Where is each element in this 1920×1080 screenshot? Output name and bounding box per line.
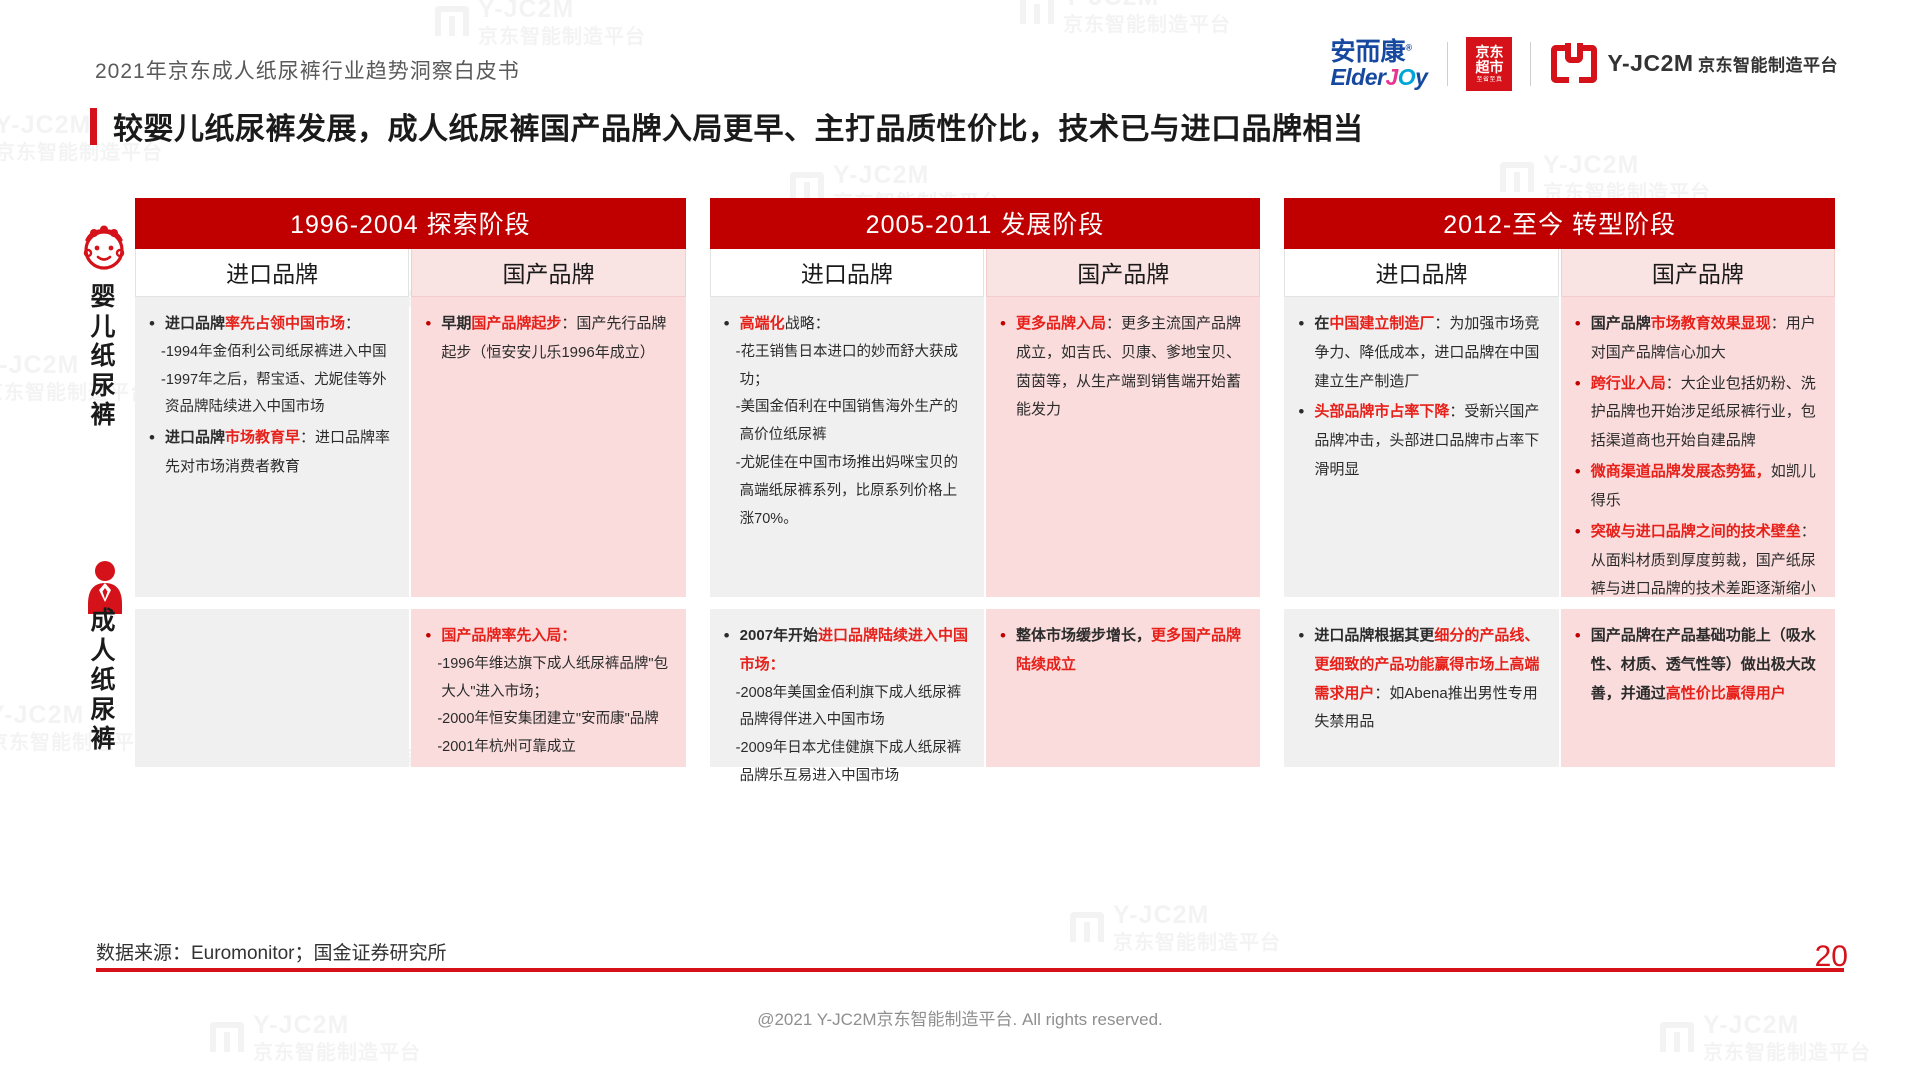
sub-line: -1994年金佰利公司纸尿裤进入中国 [165, 339, 395, 367]
jd-super-line1: 京东 [1475, 45, 1503, 60]
cell-adult-imported: 2007年开始进口品牌陆续进入中国市场： -2008年美国金佰利旗下成人纸尿裤品… [710, 609, 984, 767]
bullet-highlight: 高端化 [740, 315, 785, 332]
elderjoy-logo-y: y [1415, 64, 1427, 90]
sub-line: -2008年美国金佰利旗下成人纸尿裤品牌得伴进入中国市场 [740, 680, 970, 736]
bullet-highlight: 中国建立制造厂 [1329, 315, 1434, 332]
era-column-2005-2011: 2005-2011 发展阶段 进口品牌 高端化战略： -花王销售日本进口的妙而舒… [710, 198, 1261, 767]
row-label-baby: 婴儿纸尿裤 [88, 283, 118, 431]
brand-header-imported: 进口品牌 [1284, 249, 1558, 297]
brand-header-domestic: 国产品牌 [986, 249, 1260, 297]
list-item: 整体市场缓步增长，更多国产品牌陆续成立 [996, 622, 1246, 680]
elderjoy-logo-o: O [1398, 64, 1415, 90]
bullet-highlight: 市场教育效果显现 [1651, 315, 1771, 332]
brand-column-domestic: 国产品牌 早期国产品牌起步：国产先行品牌起步（恒安安儿乐1996年成立） 国产品 [411, 249, 685, 767]
elderjoy-logo-en: Elder [1330, 64, 1385, 90]
sub-line: -2000年恒安集团建立"安而康"品牌 [441, 706, 671, 734]
page-title: 较婴儿纸尿裤发展，成人纸尿裤国产品牌入局更早、主打品质性价比，技术已与进口品牌相… [113, 104, 1364, 148]
cell-adult-imported [135, 609, 409, 767]
cell-baby-imported: 在中国建立制造厂：为加强市场竞争力、降低成本，进口品牌在中国建立生产制造厂 头部… [1284, 297, 1558, 597]
bullet-highlight: 高性价比 [1666, 685, 1726, 702]
jd-super-logo: 京东 超市 至省至真 [1466, 37, 1512, 91]
bullet-tail: ： [345, 315, 360, 332]
bullet-lead: 国产品牌 [1591, 315, 1651, 332]
bullet-tail: 赢得用户 [1726, 685, 1786, 702]
bullet-lead: 2007年开始 [740, 627, 818, 644]
copyright-text: @2021 Y-JC2M京东智能制造平台. All rights reserve… [0, 1005, 1920, 1030]
bullet-lead: 整体市场缓步增长， [1016, 627, 1151, 644]
slide-root: Y-JC2M京东智能制造平台 Y-JC2M京东智能制造平台 Y-JC2M京东智能… [0, 0, 1920, 1080]
cell-baby-domestic: 早期国产品牌起步：国产先行品牌起步（恒安安儿乐1996年成立） [411, 297, 685, 597]
watermark: Y-JC2M京东智能制造平台 [0, 350, 151, 406]
logo-divider [1447, 42, 1448, 86]
elderjoy-logo: 安而康® ElderJOy [1330, 40, 1447, 89]
list-item: 在中国建立制造厂：为加强市场竞争力、降低成本，进口品牌在中国建立生产制造厂 [1294, 310, 1544, 396]
list-item: 微商渠道品牌发展态势猛，如凯儿得乐 [1571, 458, 1821, 516]
list-item: 突破与进口品牌之间的技术壁垒：从面料材质到厚度剪裁，国产纸尿裤与进口品牌的技术差… [1571, 518, 1821, 604]
list-item: 头部品牌市占率下降：受新兴国产品牌冲击，头部进口品牌市占率下滑明显 [1294, 398, 1544, 484]
yjc2m-logo-en: Y-JC2M [1607, 50, 1693, 76]
bullet-highlight: 国产品牌率先入局： [441, 627, 576, 644]
elderjoy-logo-cn: 安而康 [1330, 38, 1405, 66]
sub-line: -尤妮佳在中国市场推出妈咪宝贝的高端纸尿裤系列，比原系列价格上涨70%。 [740, 450, 970, 533]
cell-adult-imported: 进口品牌根据其更细分的产品线、更细致的产品功能赢得市场上高端需求用户：如Aben… [1284, 609, 1558, 767]
bullet-lead: 在 [1314, 315, 1329, 332]
list-item: 高端化战略： -花王销售日本进口的妙而舒大获成功； -美国金佰利在中国销售海外生… [720, 310, 970, 534]
era-header: 2005-2011 发展阶段 [710, 198, 1261, 249]
brand-header-domestic: 国产品牌 [1561, 249, 1835, 297]
elderjoy-logo-j: J [1385, 64, 1397, 90]
bullet-highlight: 跨行业入局 [1591, 375, 1666, 392]
cell-adult-domestic: 国产品牌在产品基础功能上（吸水性、材质、透气性等）做出极大改善，并通过高性价比赢… [1561, 609, 1835, 767]
watermark-logo-icon [435, 6, 469, 36]
yjc2m-logo: Y-JC2M 京东智能制造平台 [1531, 45, 1838, 83]
logo-group: 安而康® ElderJOy 京东 超市 至省至真 Y-JC2M 京东智能制造平台 [1330, 36, 1838, 92]
registered-mark-icon: ® [1405, 42, 1412, 52]
watermark: Y-JC2M京东智能制造平台 [0, 700, 156, 756]
sub-line: -2001年杭州可靠成立 [441, 734, 671, 762]
list-item: 国产品牌在产品基础功能上（吸水性、材质、透气性等）做出极大改善，并通过高性价比赢… [1571, 622, 1821, 708]
sub-line: -1996年维达旗下成人纸尿裤品牌"包大人"进入市场； [441, 651, 671, 707]
bullet-highlight: 市场教育早 [225, 429, 300, 446]
brand-column-domestic: 国产品牌 国产品牌市场教育效果显现：用户对国产品牌信心加大 跨行业入局：大企业包… [1561, 249, 1835, 767]
watermark-logo-icon [1070, 912, 1104, 942]
jd-super-line2: 超市 [1475, 60, 1503, 75]
adult-person-icon [86, 560, 124, 614]
watermark-logo-icon [1020, 0, 1054, 24]
era-header: 1996-2004 探索阶段 [135, 198, 686, 249]
title-accent-bar [90, 108, 97, 145]
watermark: Y-JC2M京东智能制造平台 [1020, 0, 1231, 38]
brand-header-imported: 进口品牌 [135, 249, 409, 297]
brand-columns: 进口品牌 进口品牌率先占领中国市场： -1994年金佰利公司纸尿裤进入中国 -1… [135, 249, 686, 767]
brand-column-imported: 进口品牌 进口品牌率先占领中国市场： -1994年金佰利公司纸尿裤进入中国 -1… [135, 249, 409, 767]
list-item: 国产品牌率先入局： -1996年维达旗下成人纸尿裤品牌"包大人"进入市场； -2… [421, 622, 671, 762]
list-item: 进口品牌率先占领中国市场： -1994年金佰利公司纸尿裤进入中国 -1997年之… [145, 310, 395, 422]
jd-super-tagline: 至省至真 [1476, 77, 1502, 83]
list-item: 进口品牌市场教育早：进口品牌率先对市场消费者教育 [145, 424, 395, 482]
list-item: 2007年开始进口品牌陆续进入中国市场： -2008年美国金佰利旗下成人纸尿裤品… [720, 622, 970, 791]
sub-line: -花王销售日本进口的妙而舒大获成功； [740, 339, 970, 395]
sub-line: -美国金佰利在中国销售海外生产的高价位纸尿裤 [740, 394, 970, 450]
row-label-adult: 成人纸尿裤 [88, 607, 118, 755]
slide-title-block: 较婴儿纸尿裤发展，成人纸尿裤国产品牌入局更早、主打品质性价比，技术已与进口品牌相… [90, 104, 1364, 148]
bullet-highlight: 率先占领中国市场 [225, 315, 345, 332]
data-source: 数据来源：Euromonitor；国金证券研究所 [96, 938, 447, 965]
cell-baby-domestic: 国产品牌市场教育效果显现：用户对国产品牌信心加大 跨行业入局：大企业包括奶粉、洗… [1561, 297, 1835, 597]
list-item: 跨行业入局：大企业包括奶粉、洗护品牌也开始涉足纸尿裤行业，包括渠道商也开始自建品… [1571, 370, 1821, 456]
brand-header-imported: 进口品牌 [710, 249, 984, 297]
sub-line: -2009年日本尤佳健旗下成人纸尿裤品牌乐互易进入中国市场 [740, 735, 970, 791]
list-item: 进口品牌根据其更细分的产品线、更细致的产品功能赢得市场上高端需求用户：如Aben… [1294, 622, 1544, 737]
yjc2m-mark-icon [1551, 45, 1597, 83]
cell-baby-domestic: 更多品牌入局：更多主流国产品牌成立，如吉氏、贝康、爹地宝贝、茵茵等，从生产端到销… [986, 297, 1260, 597]
watermark-logo-icon [1500, 162, 1534, 192]
page-number: 20 [1815, 940, 1848, 974]
document-title: 2021年京东成人纸尿裤行业趋势洞察白皮书 [95, 55, 520, 85]
brand-column-imported: 进口品牌 高端化战略： -花王销售日本进口的妙而舒大获成功； -美国金佰利在中国… [710, 249, 984, 767]
list-item: 更多品牌入局：更多主流国产品牌成立，如吉氏、贝康、爹地宝贝、茵茵等，从生产端到销… [996, 310, 1246, 425]
brand-header-domestic: 国产品牌 [411, 249, 685, 297]
bullet-lead: 进口品牌 [165, 429, 225, 446]
bullet-lead: 早期 [441, 315, 471, 332]
bullet-tail: 战略： [785, 315, 830, 332]
cell-baby-imported: 高端化战略： -花王销售日本进口的妙而舒大获成功； -美国金佰利在中国销售海外生… [710, 297, 984, 597]
cell-adult-domestic: 国产品牌率先入局： -1996年维达旗下成人纸尿裤品牌"包大人"进入市场； -2… [411, 609, 685, 767]
brand-column-domestic: 国产品牌 更多品牌入局：更多主流国产品牌成立，如吉氏、贝康、爹地宝贝、茵茵等，从… [986, 249, 1260, 767]
era-header: 2012-至今 转型阶段 [1284, 198, 1835, 249]
bullet-highlight: 更多品牌入局 [1016, 315, 1106, 332]
watermark: Y-JC2M京东智能制造平台 [1070, 900, 1281, 956]
yjc2m-logo-cn: 京东智能制造平台 [1698, 56, 1838, 75]
footer-divider [96, 968, 1844, 972]
bullet-highlight: 头部品牌市占率下降 [1314, 403, 1449, 420]
brand-columns: 进口品牌 高端化战略： -花王销售日本进口的妙而舒大获成功； -美国金佰利在中国… [710, 249, 1261, 767]
list-item: 早期国产品牌起步：国产先行品牌起步（恒安安儿乐1996年成立） [421, 310, 671, 368]
cell-baby-imported: 进口品牌率先占领中国市场： -1994年金佰利公司纸尿裤进入中国 -1997年之… [135, 297, 409, 597]
sub-line: -1997年之后，帮宝适、尤妮佳等外资品牌陆续进入中国市场 [165, 367, 395, 423]
bullet-lead: 进口品牌 [165, 315, 225, 332]
era-column-1996-2004: 1996-2004 探索阶段 进口品牌 进口品牌率先占领中国市场： -1994年… [135, 198, 686, 767]
bullet-highlight: 微商渠道品牌发展态势猛， [1591, 463, 1771, 480]
watermark: Y-JC2M京东智能制造平台 [435, 0, 646, 50]
bullet-highlight: 国产品牌起步 [471, 315, 561, 332]
bullet-lead: 进口品牌根据其更 [1314, 627, 1434, 644]
bullet-highlight: 突破与进口品牌之间的技术壁垒 [1591, 523, 1801, 540]
brand-column-imported: 进口品牌 在中国建立制造厂：为加强市场竞争力、降低成本，进口品牌在中国建立生产制… [1284, 249, 1558, 767]
list-item: 国产品牌市场教育效果显现：用户对国产品牌信心加大 [1571, 310, 1821, 368]
cell-adult-domestic: 整体市场缓步增长，更多国产品牌陆续成立 [986, 609, 1260, 767]
era-column-2012-now: 2012-至今 转型阶段 进口品牌 在中国建立制造厂：为加强市场竞争力、降低成本… [1284, 198, 1835, 767]
brand-columns: 进口品牌 在中国建立制造厂：为加强市场竞争力、降低成本，进口品牌在中国建立生产制… [1284, 249, 1835, 767]
baby-face-icon [78, 222, 130, 274]
era-matrix: 1996-2004 探索阶段 进口品牌 进口品牌率先占领中国市场： -1994年… [135, 198, 1835, 767]
